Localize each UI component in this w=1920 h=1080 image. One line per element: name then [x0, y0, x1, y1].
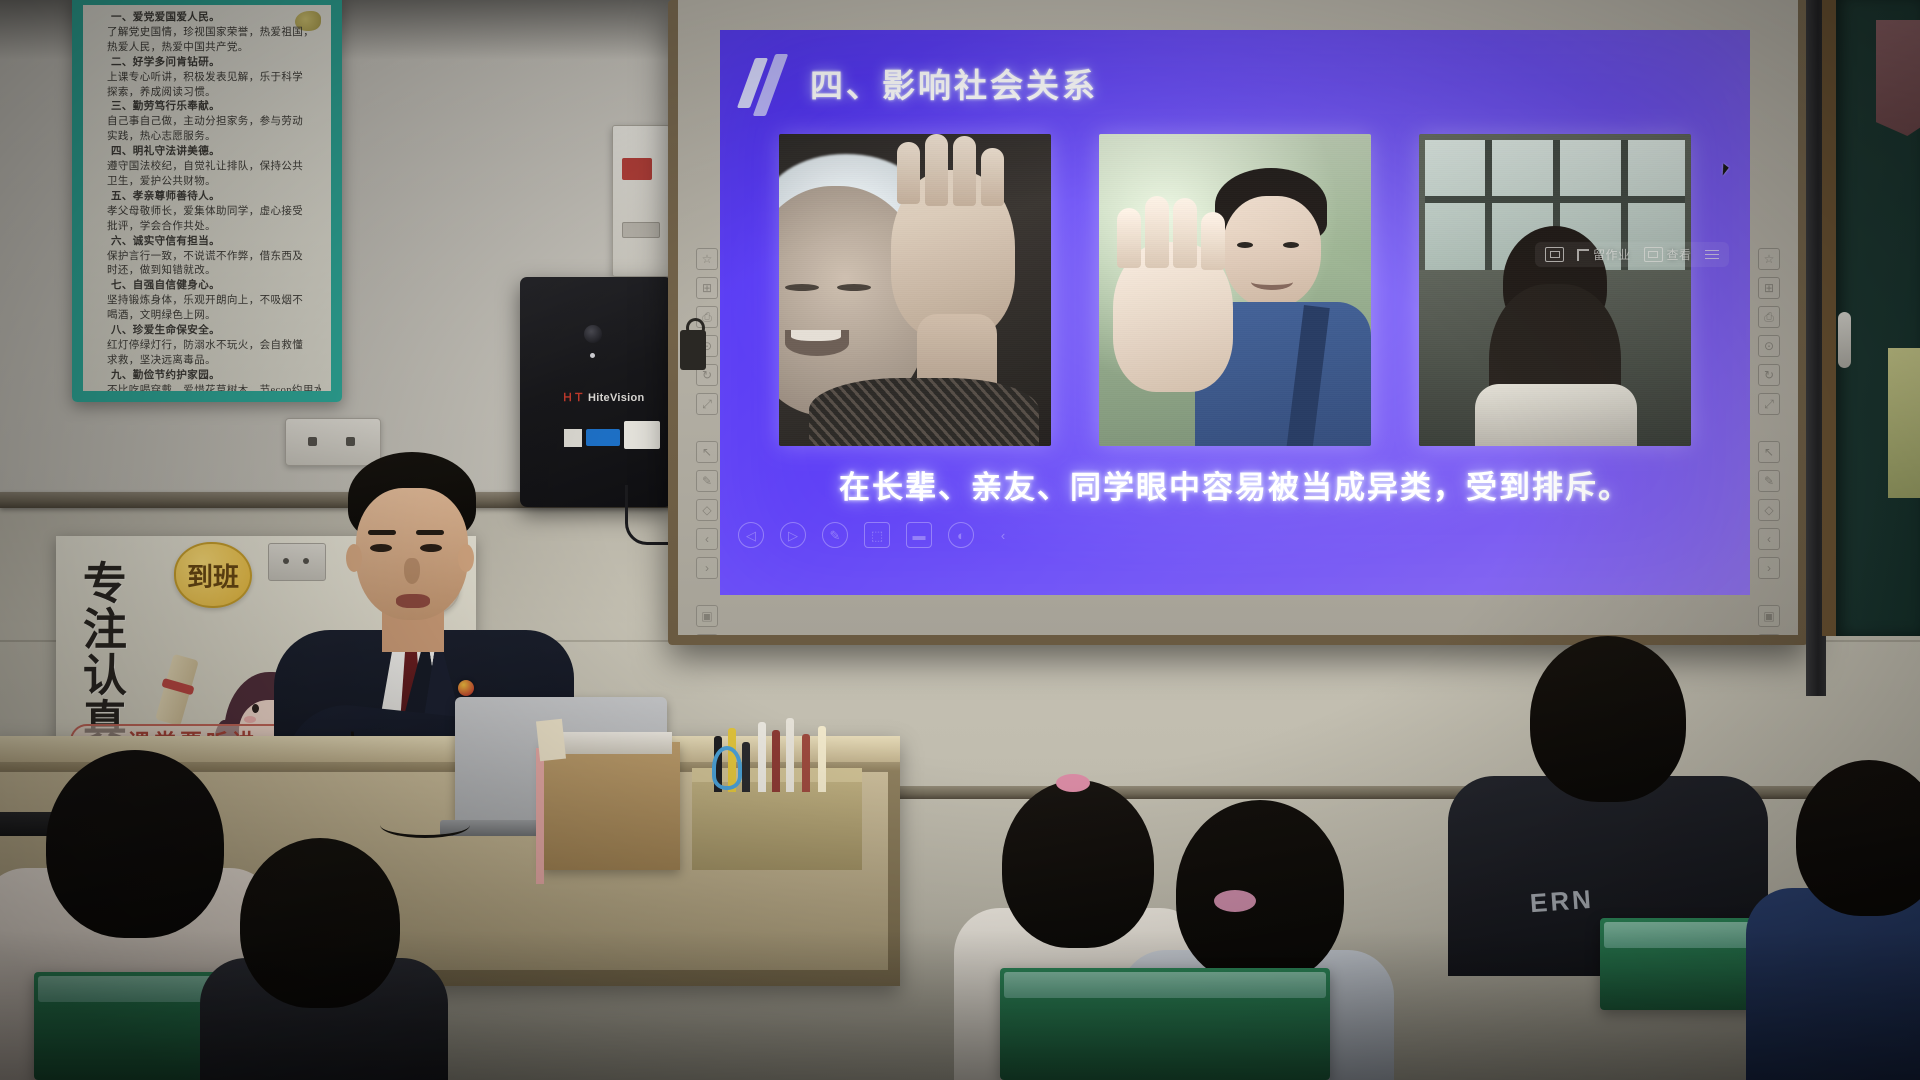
prev-page-icon[interactable]: ‹: [1758, 528, 1780, 550]
select-icon[interactable]: ⬚: [864, 522, 890, 548]
rules-poster-line: 批评，学会合作共处。: [93, 220, 321, 235]
rules-poster-line: 求救，坚决远离毒品。: [93, 354, 321, 369]
poster-column-text: 专注认真: [74, 560, 126, 744]
rules-poster-line: 红灯停绿灯行，防溺水不玩火，会自救懂: [93, 339, 321, 354]
next-icon[interactable]: ▷: [780, 522, 806, 548]
rules-poster-line: 八、珍爱生命保安全。: [93, 324, 321, 339]
pen-icon[interactable]: ✎: [696, 470, 718, 492]
view-button[interactable]: 查看: [1644, 246, 1692, 263]
rules-poster-line: 四、明礼守法讲美德。: [93, 145, 321, 160]
slide-floating-toolbar[interactable]: 留作业 查看: [1535, 242, 1729, 267]
mouse-cable: [380, 812, 470, 838]
rules-poster-line: 六、诚实守信有担当。: [93, 235, 321, 250]
qr-label: [564, 429, 582, 447]
hamburger-menu-icon[interactable]: [1705, 250, 1719, 260]
classroom-scene: 一、爱党爱国爱人民。了解党史国情，珍视国家荣誉，热爱祖国，热爱人民，热爱中国共产…: [0, 0, 1920, 1080]
whiteboard-pen-holder[interactable]: [680, 330, 706, 370]
rules-poster-line: 坚持锻炼身体，乐观开朗向上，不吸烟不: [93, 294, 321, 309]
toolbar-separator: [696, 422, 718, 434]
save-icon[interactable]: ⊞: [696, 277, 718, 299]
rules-poster-line: 时还，做到知错就改。: [93, 264, 321, 279]
toolbar-separator: [696, 586, 718, 598]
rules-poster-line: 实践，热心志愿服务。: [93, 130, 321, 145]
slide-title-accent-icon: [738, 58, 794, 108]
eraser-icon[interactable]: ◇: [696, 499, 718, 521]
slide-header: 四、影响社会关系: [720, 52, 1750, 114]
scissors: [712, 746, 742, 790]
student-desk-center: [1000, 968, 1330, 1080]
star-icon[interactable]: ☆: [696, 248, 718, 270]
student-rules-poster: 一、爱党爱国爱人民。了解党史国情，珍视国家荣誉，热爱祖国，热爱人民，热爱中国共产…: [72, 0, 342, 402]
jacket-print-text: ERN: [1529, 884, 1595, 919]
screen-icon[interactable]: ▬: [906, 522, 932, 548]
pen-holder-box: [692, 778, 862, 870]
wall-control-panel[interactable]: [612, 125, 670, 277]
slide-photo-elderly-waving: [779, 134, 1051, 446]
rules-poster-line: 保护言行一致，不说谎不作弊，借东西及: [93, 250, 321, 265]
rules-poster-line: 三、勤劳笃行乐奉献。: [93, 100, 321, 115]
slide-photo-boy-waving: [1099, 134, 1371, 446]
slide-photo-student-alone: [1419, 134, 1691, 446]
pen-icon[interactable]: ✎: [822, 522, 848, 548]
status-led: [590, 353, 595, 358]
next-page-icon[interactable]: ›: [696, 557, 718, 579]
projected-slide[interactable]: 四、影响社会关系: [720, 30, 1750, 595]
rules-poster-line: 不比吃喝穿戴，爱惜花草树木，节econ约用水: [93, 384, 321, 399]
view-label: 查看: [1667, 246, 1692, 263]
star-icon[interactable]: ☆: [1758, 248, 1780, 270]
slide-playback-toolbar[interactable]: ◁▷✎⬚▬◐‹: [738, 522, 1016, 548]
cursor-icon[interactable]: ↖: [1758, 441, 1780, 463]
keyboard-icon[interactable]: ▣: [1758, 605, 1780, 627]
record-icon[interactable]: ⊙: [1758, 335, 1780, 357]
whiteboard-toolbar-right[interactable]: ☆⊞⎙⊙↻⤢↖✎◇‹›▣⊟▫◍: [1754, 248, 1784, 635]
chalkboard-poster-top: [1876, 20, 1920, 136]
cursor-icon[interactable]: ↖: [696, 441, 718, 463]
previous-icon[interactable]: ◁: [738, 522, 764, 548]
student-far-right: [1762, 760, 1920, 1080]
rules-poster-line: 自己事自己做，主动分担家务，参与劳动: [93, 115, 321, 130]
blue-label: [586, 429, 620, 446]
rules-poster-line: 探索，养成阅读习惯。: [93, 86, 321, 101]
rules-poster-line: 一、爱党爱国爱人民。: [93, 11, 321, 26]
collapse-icon[interactable]: ‹: [990, 522, 1016, 548]
toolbar-separator: [1758, 586, 1780, 598]
poster-badge-left: 到班: [174, 542, 252, 608]
whiteboard-toolbar-left[interactable]: ☆⊞⎙⊙↻⤢↖✎◇‹›▣⊟▫◍: [692, 248, 722, 635]
prev-page-icon[interactable]: ‹: [696, 528, 718, 550]
device-cable: [625, 485, 669, 545]
slide-photo-row: [720, 134, 1750, 446]
slide-caption: 在长辈、亲友、同学眼中容易被当成异类，受到排斥。: [720, 462, 1750, 507]
rules-poster-line: 遵守国法校纪，自觉礼让排队，保持公共: [93, 160, 321, 175]
screen-share-icon[interactable]: [1545, 247, 1564, 262]
view-icon: [1644, 247, 1663, 262]
screenshot-icon[interactable]: ⎙: [1758, 306, 1780, 328]
assign-homework-label: 留作业: [1593, 246, 1631, 263]
hair-scrunchie: [1056, 774, 1090, 792]
toolbox-icon[interactable]: ⊟: [696, 634, 718, 635]
fullscreen-icon[interactable]: ⤢: [1758, 393, 1780, 415]
next-page-icon[interactable]: ›: [1758, 557, 1780, 579]
spec-label: [624, 421, 660, 449]
camera-lens-icon: [584, 325, 602, 343]
toolbox-icon[interactable]: ⊟: [1758, 634, 1780, 635]
rules-poster-line: 五、孝亲尊师善待人。: [93, 190, 321, 205]
device-brand-label: ＨＴ HiteVision: [562, 389, 645, 405]
teacher-lapel-pin: [458, 680, 474, 696]
cardboard-box: [542, 742, 680, 870]
rules-poster-line: 节电，低碳environmental生活。: [93, 399, 321, 402]
brightness-icon[interactable]: ◐: [948, 522, 974, 548]
rules-poster-line: 七、自强自信健身心。: [93, 279, 321, 294]
rules-poster-line: 孝父母敬师长，爱集体助同学，虚心接受: [93, 205, 321, 220]
diploma-scroll-illustration: [155, 654, 199, 727]
student-left-2: [200, 838, 450, 1080]
rules-poster-line: 卫生，爱护公共财物。: [93, 175, 321, 190]
crop-corner-icon: [1577, 249, 1589, 261]
save-icon[interactable]: ⊞: [1758, 277, 1780, 299]
rules-poster-line: 热爱人民，热爱中国共产党。: [93, 41, 321, 56]
hair-tie: [1214, 890, 1256, 912]
toolbar-separator: [1758, 422, 1780, 434]
eraser-icon[interactable]: ◇: [1758, 499, 1780, 521]
chalkboard-clip: [1838, 312, 1851, 368]
rules-poster-line: 喝酒，文明绿色上网。: [93, 309, 321, 324]
rules-poster-line: 九、勤俭节约护家园。: [93, 369, 321, 384]
rules-poster-line: 上课专心听讲，积极发表见解，乐于科学: [93, 71, 321, 86]
slide-title: 四、影响社会关系: [810, 59, 1098, 107]
rules-poster-line: 二、好学多问肯钻研。: [93, 56, 321, 71]
chalkboard-poster-bottom: [1888, 348, 1920, 498]
pen-icon[interactable]: ✎: [1758, 470, 1780, 492]
assign-homework-button[interactable]: 留作业: [1577, 246, 1631, 263]
green-chalkboard: [1822, 0, 1920, 636]
rules-poster-line: 了解党史国情，珍视国家荣誉，热爱祖国，: [93, 26, 321, 41]
keyboard-icon[interactable]: ▣: [696, 605, 718, 627]
rotate-icon[interactable]: ↻: [1758, 364, 1780, 386]
fullscreen-icon[interactable]: ⤢: [696, 393, 718, 415]
